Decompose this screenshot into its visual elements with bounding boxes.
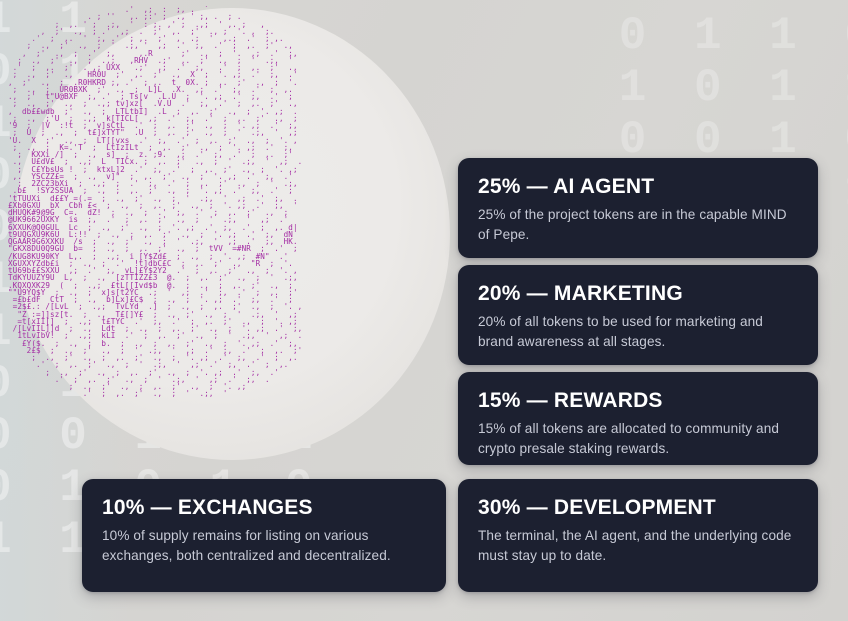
card-description: 10% of supply remains for listing on var… xyxy=(102,526,426,566)
ascii-art-halo xyxy=(14,8,450,460)
allocation-card-exchanges[interactable]: 10% — EXCHANGES 10% of supply remains fo… xyxy=(82,479,446,592)
ascii-cube-icon: .' ,; : ;, . ` . ; '' ,. ;:' ; ., ' ;, .… xyxy=(8,6,456,468)
allocation-card-development[interactable]: 30% — DEVELOPMENT The terminal, the AI a… xyxy=(458,479,818,592)
card-description: 15% of all tokens are allocated to commu… xyxy=(478,419,798,459)
card-description: 20% of all tokens to be used for marketi… xyxy=(478,312,798,352)
card-description: 25% of the project tokens are in the cap… xyxy=(478,205,798,245)
allocation-card-rewards[interactable]: 15% — REWARDS 15% of all tokens are allo… xyxy=(458,372,818,465)
card-description: The terminal, the AI agent, and the unde… xyxy=(478,526,798,566)
allocation-card-marketing[interactable]: 20% — MARKETING 20% of all tokens to be … xyxy=(458,265,818,365)
tokenomics-section: 1 1 0 1 1 0 1 0 1 1 1 0 1 0 1 1 1 0 0 0 … xyxy=(0,0,848,621)
card-title: 10% — EXCHANGES xyxy=(102,496,426,520)
allocation-card-ai-agent[interactable]: 25% — AI AGENT 25% of the project tokens… xyxy=(458,158,818,258)
card-title: 15% — REWARDS xyxy=(478,389,798,413)
card-title: 20% — MARKETING xyxy=(478,282,798,306)
card-title: 30% — DEVELOPMENT xyxy=(478,496,798,520)
card-title: 25% — AI AGENT xyxy=(478,175,798,199)
